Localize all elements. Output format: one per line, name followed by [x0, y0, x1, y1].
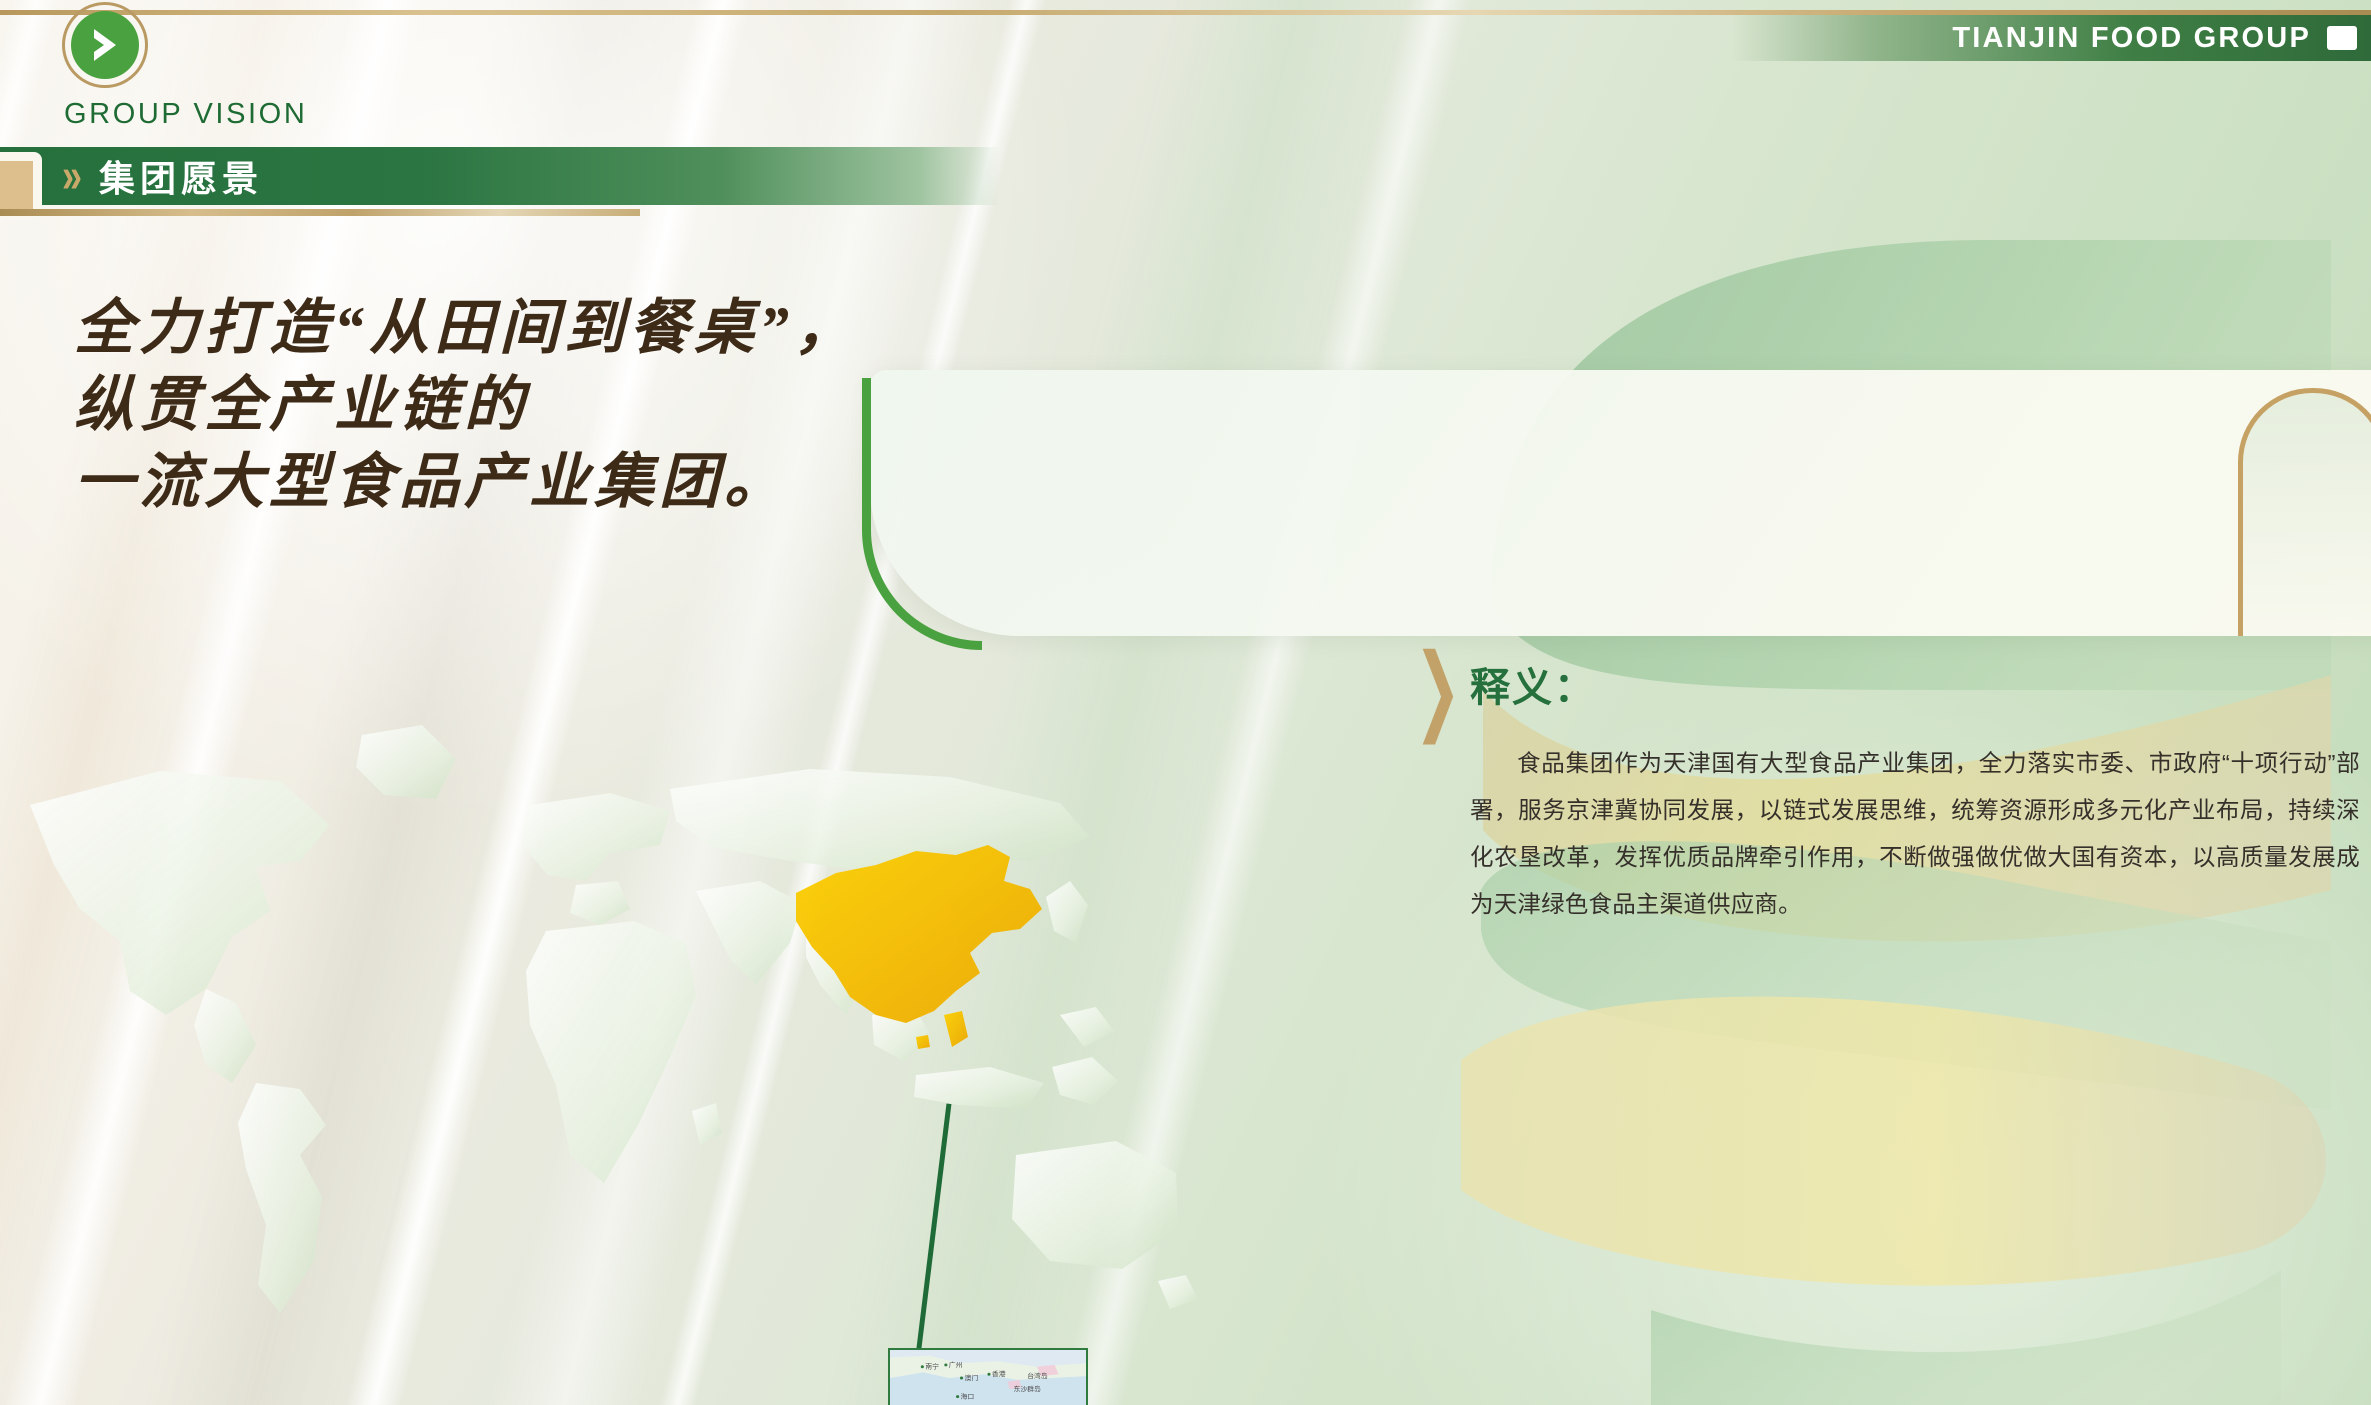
double-chevron-icon: » [62, 152, 77, 201]
section-title-bar: » 集团愿景 [0, 147, 1000, 205]
page-title: 集团愿景 [99, 150, 263, 202]
card-title: 释义： [1470, 655, 1596, 713]
brand-name: TIANJIN FOOD GROUP [1952, 22, 2311, 55]
headline-line-3: 一流大型食品产业集团。 [74, 444, 974, 521]
world-map-graphic [0, 685, 1370, 1405]
map-callout-detail: 南宁 广州 澳门 香港 台湾岛 东沙群岛 海口 [888, 1348, 1088, 1405]
badge-disc [71, 11, 139, 79]
svg-text:海口: 海口 [961, 1392, 975, 1401]
explanation-card [870, 370, 2371, 636]
svg-text:东沙群岛: 东沙群岛 [1013, 1384, 1041, 1393]
title-underline-rule [0, 209, 640, 216]
svg-text:广州: 广州 [949, 1360, 963, 1369]
chevron-right-icon[interactable] [62, 2, 148, 88]
headline-line-1: 全力打造“从田间到餐桌”， [74, 290, 974, 367]
slide-canvas: TIANJIN FOOD GROUP GROUP VISION » 集团愿景 全… [0, 0, 2371, 1405]
svg-text:香港: 香港 [992, 1369, 1006, 1378]
section-eyebrow: GROUP VISION [64, 98, 307, 131]
svg-text:澳门: 澳门 [964, 1373, 978, 1382]
card-body-text: 食品集团作为天津国有大型食品产业集团，全力落实市委、市政府“十项行动”部署，服务… [1470, 740, 2360, 928]
brand-bar: TIANJIN FOOD GROUP [1731, 15, 2371, 61]
brand-mark-icon [2327, 26, 2357, 50]
card-chevron-icon: ❯ [1414, 640, 1461, 736]
svg-text:南宁: 南宁 [925, 1362, 939, 1371]
headline-line-2: 纵贯全产业链的 [74, 367, 974, 444]
card-gold-arch-decoration [2238, 388, 2371, 636]
svg-text:台湾岛: 台湾岛 [1027, 1371, 1048, 1380]
vision-headline: 全力打造“从田间到餐桌”， 纵贯全产业链的 一流大型食品产业集团。 [74, 290, 974, 520]
